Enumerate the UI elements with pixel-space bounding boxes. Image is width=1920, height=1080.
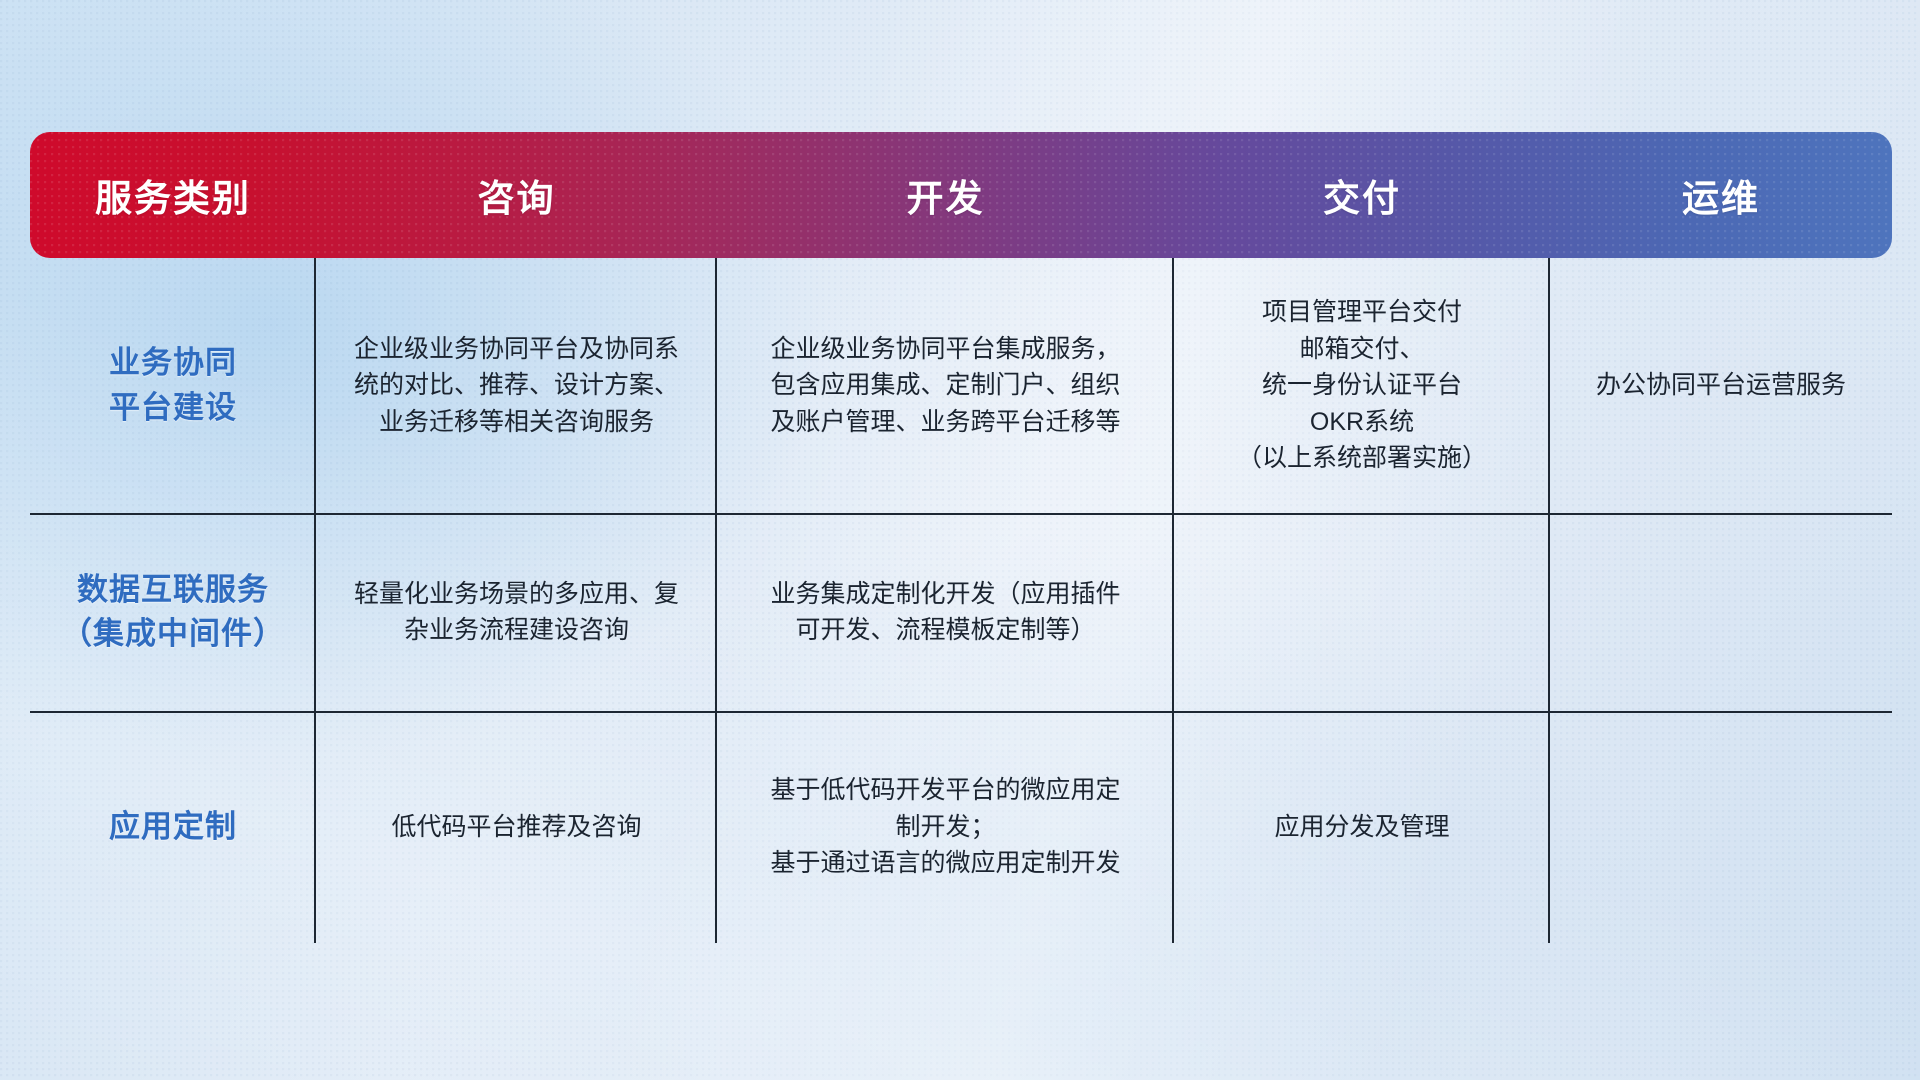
row-label-cell: 业务协同 平台建设 (30, 258, 316, 513)
column-header-category: 服务类别 (30, 132, 316, 258)
column-header-operations: 运维 (1550, 132, 1892, 258)
column-header-delivery: 交付 (1174, 132, 1550, 258)
cell-consulting: 企业级业务协同平台及协同系 统的对比、推荐、设计方案、 业务迁移等相关咨询服务 (316, 258, 717, 513)
cell-consulting: 低代码平台推荐及咨询 (316, 711, 717, 943)
cell-delivery: 项目管理平台交付 邮箱交付、 统一身份认证平台 OKR系统 （以上系统部署实施） (1174, 258, 1550, 513)
table-row: 业务协同 平台建设 企业级业务协同平台及协同系 统的对比、推荐、设计方案、 业务… (30, 258, 1892, 513)
cell-operations: 办公协同平台运营服务 (1550, 258, 1892, 513)
table-header-row: 服务类别 咨询 开发 交付 运维 (30, 132, 1892, 258)
cell-operations (1550, 711, 1892, 943)
row-label-cell: 应用定制 (30, 711, 316, 943)
cell-development: 基于低代码开发平台的微应用定 制开发； 基于通过语言的微应用定制开发 (717, 711, 1174, 943)
slide-canvas: 服务类别 咨询 开发 交付 运维 业务协同 平台建设 企业级业务协同平台及协同系… (0, 0, 1920, 1080)
cell-delivery (1174, 513, 1550, 711)
table-row: 数据互联服务 （集成中间件） 轻量化业务场景的多应用、复 杂业务流程建设咨询 业… (30, 513, 1892, 711)
cell-development: 业务集成定制化开发（应用插件 可开发、流程模板定制等） (717, 513, 1174, 711)
table-row: 应用定制 低代码平台推荐及咨询 基于低代码开发平台的微应用定 制开发； 基于通过… (30, 711, 1892, 943)
cell-operations (1550, 513, 1892, 711)
cell-delivery: 应用分发及管理 (1174, 711, 1550, 943)
table-body: 业务协同 平台建设 企业级业务协同平台及协同系 统的对比、推荐、设计方案、 业务… (30, 258, 1892, 943)
service-matrix-table: 服务类别 咨询 开发 交付 运维 业务协同 平台建设 企业级业务协同平台及协同系… (30, 132, 1892, 943)
row-label-cell: 数据互联服务 （集成中间件） (30, 513, 316, 711)
column-header-consulting: 咨询 (316, 132, 717, 258)
column-header-development: 开发 (717, 132, 1174, 258)
cell-consulting: 轻量化业务场景的多应用、复 杂业务流程建设咨询 (316, 513, 717, 711)
cell-development: 企业级业务协同平台集成服务， 包含应用集成、定制门户、组织 及账户管理、业务跨平… (717, 258, 1174, 513)
